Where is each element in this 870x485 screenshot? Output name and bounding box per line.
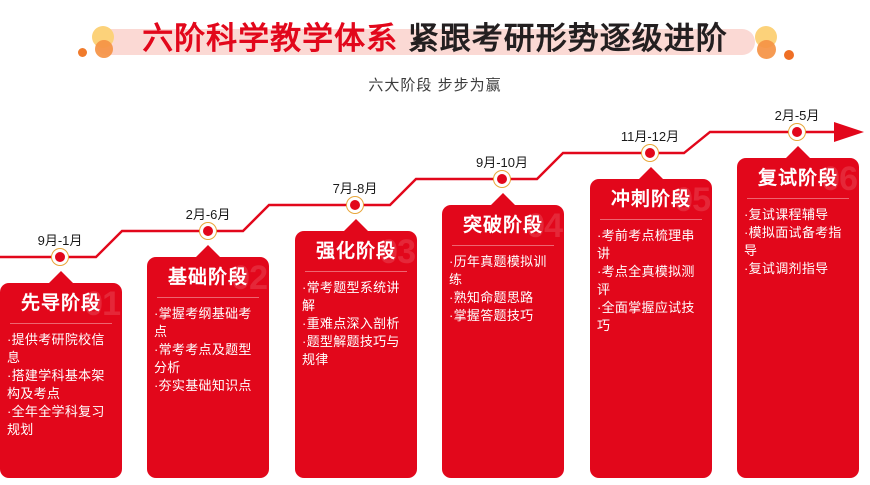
list-item: ·熟知命题思路 xyxy=(449,289,557,307)
stage-card-1[interactable]: 01 先导阶段 ·提供考研院校信息 ·搭建学科基本架构及考点 ·全年全学科复习规… xyxy=(0,283,122,478)
stage-date-6: 2月-5月 xyxy=(775,105,820,124)
timeline-arrow-head-icon xyxy=(834,122,864,142)
list-item: ·复试课程辅导 xyxy=(744,206,852,224)
stage-bullets-3: ·常考题型系统讲解 ·重难点深入剖析 ·题型解题技巧与规律 xyxy=(295,279,417,379)
infographic-root: 六阶科学教学体系 紧跟考研形势逐级进阶 六大阶段 步步为赢 9月-1月 2月-6… xyxy=(0,0,870,485)
timeline-marker-3[interactable] xyxy=(346,196,364,214)
stage-date-1: 9月-1月 xyxy=(38,230,83,249)
list-item: ·常考题型系统讲解 xyxy=(302,279,410,315)
timeline-marker-5[interactable] xyxy=(641,144,659,162)
stage-card-3[interactable]: 03 强化阶段 ·常考题型系统讲解 ·重难点深入剖析 ·题型解题技巧与规律 xyxy=(295,231,417,478)
stage-bullets-1: ·提供考研院校信息 ·搭建学科基本架构及考点 ·全年全学科复习规划 xyxy=(0,331,122,449)
stage-bullets-6: ·复试课程辅导 ·模拟面试备考指导 ·复试调剂指导 xyxy=(737,206,859,288)
stage-date-5: 11月-12月 xyxy=(621,126,679,145)
timeline-marker-1[interactable] xyxy=(51,248,69,266)
card-divider-5 xyxy=(600,219,702,220)
decorative-dot-right-small xyxy=(784,50,794,60)
stage-card-5[interactable]: 05 冲刺阶段 ·考前考点梳理串讲 ·考点全真模拟测评 ·全面掌握应试技巧 xyxy=(590,179,712,478)
timeline-line xyxy=(0,132,838,257)
card-divider-6 xyxy=(747,198,849,199)
page-subtitle: 六大阶段 步步为赢 xyxy=(0,74,870,95)
stage-title-4: 突破阶段 xyxy=(442,205,564,243)
list-item: ·掌握考纲基础考点 xyxy=(154,305,262,341)
stage-title-3: 强化阶段 xyxy=(295,231,417,269)
list-item: ·考前考点梳理串讲 xyxy=(597,227,705,263)
stage-bullets-2: ·掌握考纲基础考点 ·常考考点及题型分析 ·夯实基础知识点 xyxy=(147,305,269,405)
stage-title-6: 复试阶段 xyxy=(737,158,859,196)
list-item: ·考点全真模拟测评 xyxy=(597,263,705,299)
list-item: ·重难点深入剖析 xyxy=(302,315,410,333)
decorative-circle-right-orange xyxy=(757,40,776,59)
timeline-marker-4[interactable] xyxy=(493,170,511,188)
stage-card-4[interactable]: 04 突破阶段 ·历年真题模拟训练 ·熟知命题思路 ·掌握答题技巧 xyxy=(442,205,564,478)
page-title-secondary: 紧跟考研形势逐级进阶 xyxy=(408,21,728,56)
card-divider-4 xyxy=(452,245,554,246)
card-divider-3 xyxy=(305,271,407,272)
list-item: ·题型解题技巧与规律 xyxy=(302,333,410,369)
card-divider-2 xyxy=(157,297,259,298)
timeline-marker-6[interactable] xyxy=(788,123,806,141)
list-item: ·提供考研院校信息 xyxy=(7,331,115,367)
list-item: ·历年真题模拟训练 xyxy=(449,253,557,289)
list-item: ·模拟面试备考指导 xyxy=(744,224,852,260)
timeline-marker-2[interactable] xyxy=(199,222,217,240)
stage-title-5: 冲刺阶段 xyxy=(590,179,712,217)
stage-date-3: 7月-8月 xyxy=(333,178,378,197)
stage-date-4: 9月-10月 xyxy=(476,152,528,171)
decorative-circle-left-orange xyxy=(95,40,113,58)
list-item: ·掌握答题技巧 xyxy=(449,307,557,325)
list-item: ·常考考点及题型分析 xyxy=(154,341,262,377)
stage-title-2: 基础阶段 xyxy=(147,257,269,295)
list-item: ·全年全学科复习规划 xyxy=(7,403,115,439)
list-item: ·全面掌握应试技巧 xyxy=(597,299,705,335)
stage-date-2: 2月-6月 xyxy=(186,204,231,223)
list-item: ·夯实基础知识点 xyxy=(154,377,262,395)
stage-card-2[interactable]: 02 基础阶段 ·掌握考纲基础考点 ·常考考点及题型分析 ·夯实基础知识点 xyxy=(147,257,269,478)
stage-bullets-5: ·考前考点梳理串讲 ·考点全真模拟测评 ·全面掌握应试技巧 xyxy=(590,227,712,345)
stage-bullets-4: ·历年真题模拟训练 ·熟知命题思路 ·掌握答题技巧 xyxy=(442,253,564,335)
header: 六阶科学教学体系 紧跟考研形势逐级进阶 六大阶段 步步为赢 xyxy=(0,0,870,110)
stage-card-6[interactable]: 06 复试阶段 ·复试课程辅导 ·模拟面试备考指导 ·复试调剂指导 xyxy=(737,158,859,478)
decorative-dot-left-small xyxy=(78,48,87,57)
list-item: ·复试调剂指导 xyxy=(744,260,852,278)
list-item: ·搭建学科基本架构及考点 xyxy=(7,367,115,403)
page-title-primary: 六阶科学教学体系 xyxy=(142,21,398,56)
card-divider-1 xyxy=(10,323,112,324)
stage-title-1: 先导阶段 xyxy=(0,283,122,321)
